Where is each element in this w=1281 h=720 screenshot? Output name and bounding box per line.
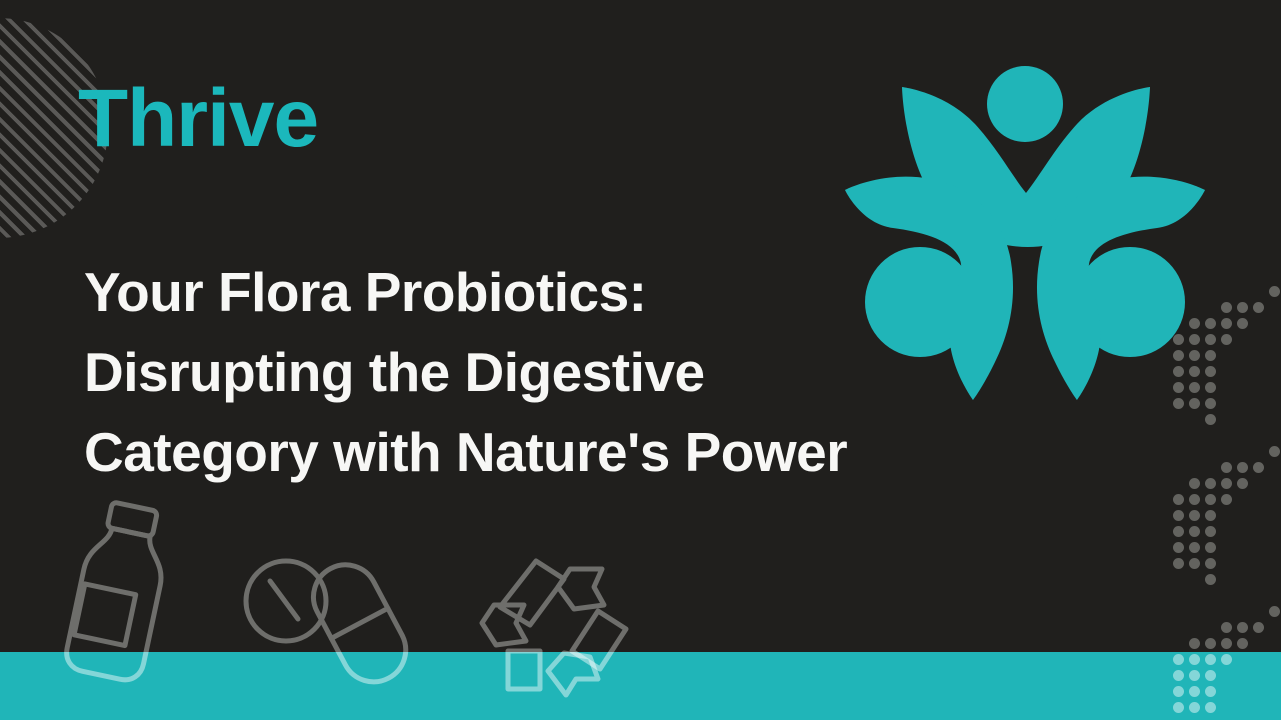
pattern-dot: [1189, 366, 1200, 377]
pattern-dot: [1221, 302, 1232, 313]
pattern-dot: [1253, 622, 1264, 633]
pattern-dot: [1173, 670, 1184, 681]
pattern-dot: [1221, 654, 1232, 665]
pattern-dot: [1221, 318, 1232, 329]
supplement-bottle-icon: [58, 500, 188, 652]
pattern-dot: [1189, 334, 1200, 345]
recycle-icon-overlay: [478, 652, 638, 703]
pattern-dot: [1189, 686, 1200, 697]
pattern-dot: [1237, 462, 1248, 473]
presentation-slide: Thrive Your Flora Probiotics: Disrupting…: [0, 0, 1281, 720]
pattern-dot: [1205, 654, 1216, 665]
pattern-dot: [1205, 334, 1216, 345]
pattern-dot: [1205, 318, 1216, 329]
pattern-dot: [1189, 654, 1200, 665]
pattern-dot: [1205, 702, 1216, 713]
pattern-dot: [1189, 510, 1200, 521]
pattern-dot: [1189, 526, 1200, 537]
pattern-dot: [1189, 638, 1200, 649]
pattern-dot: [1205, 670, 1216, 681]
pattern-dot: [1173, 398, 1184, 409]
pattern-dot: [1205, 382, 1216, 393]
pattern-dot: [1189, 350, 1200, 361]
pattern-dot: [1205, 558, 1216, 569]
pattern-dot: [1205, 478, 1216, 489]
pattern-dot: [1173, 334, 1184, 345]
pattern-dot: [1205, 366, 1216, 377]
pattern-dot: [1221, 462, 1232, 473]
pattern-dot: [1205, 574, 1216, 585]
pattern-dot: [1173, 558, 1184, 569]
pattern-dot: [1205, 686, 1216, 697]
pattern-dot: [1221, 478, 1232, 489]
pattern-dot: [1189, 542, 1200, 553]
pattern-dot: [1237, 478, 1248, 489]
pattern-dot: [1221, 334, 1232, 345]
pattern-dot: [1221, 638, 1232, 649]
pattern-dot: [1221, 494, 1232, 505]
capsule-pill-icon-overlay: [305, 652, 415, 690]
pattern-dot: [1189, 382, 1200, 393]
recycle-icon: [478, 553, 638, 652]
pattern-dot: [1269, 606, 1280, 617]
pattern-dot: [1253, 462, 1264, 473]
pattern-dot: [1189, 318, 1200, 329]
pattern-dot: [1173, 382, 1184, 393]
pattern-dot: [1205, 350, 1216, 361]
pattern-dot: [1173, 366, 1184, 377]
pattern-dot: [1173, 654, 1184, 665]
dot-pattern-decoration: [1177, 286, 1281, 720]
pattern-dot: [1189, 478, 1200, 489]
pattern-dot: [1205, 638, 1216, 649]
pattern-dot: [1173, 494, 1184, 505]
product-icons-light-layer: [0, 652, 1281, 720]
pattern-dot: [1253, 302, 1264, 313]
product-icons-dark-layer: [0, 0, 1281, 652]
pattern-dot: [1205, 526, 1216, 537]
pattern-dot: [1189, 494, 1200, 505]
pattern-dot: [1189, 702, 1200, 713]
pattern-dot: [1173, 350, 1184, 361]
pattern-dot: [1205, 398, 1216, 409]
supplement-bottle-icon-overlay: [58, 652, 188, 685]
pattern-dot: [1237, 302, 1248, 313]
pattern-dot: [1237, 318, 1248, 329]
pattern-dot: [1205, 510, 1216, 521]
pattern-dot: [1173, 702, 1184, 713]
capsule-pill-icon: [305, 555, 415, 652]
pattern-dot: [1269, 286, 1280, 297]
pattern-dot: [1205, 494, 1216, 505]
pattern-dot: [1173, 526, 1184, 537]
pattern-dot: [1173, 510, 1184, 521]
pattern-dot: [1189, 670, 1200, 681]
pattern-dot: [1205, 542, 1216, 553]
pattern-dot: [1189, 558, 1200, 569]
pattern-dot: [1221, 622, 1232, 633]
pattern-dot: [1173, 686, 1184, 697]
pattern-dot: [1173, 542, 1184, 553]
pattern-dot: [1237, 622, 1248, 633]
pattern-dot: [1237, 638, 1248, 649]
pattern-dot: [1205, 414, 1216, 425]
pattern-dot: [1189, 398, 1200, 409]
pattern-dot: [1269, 446, 1280, 457]
